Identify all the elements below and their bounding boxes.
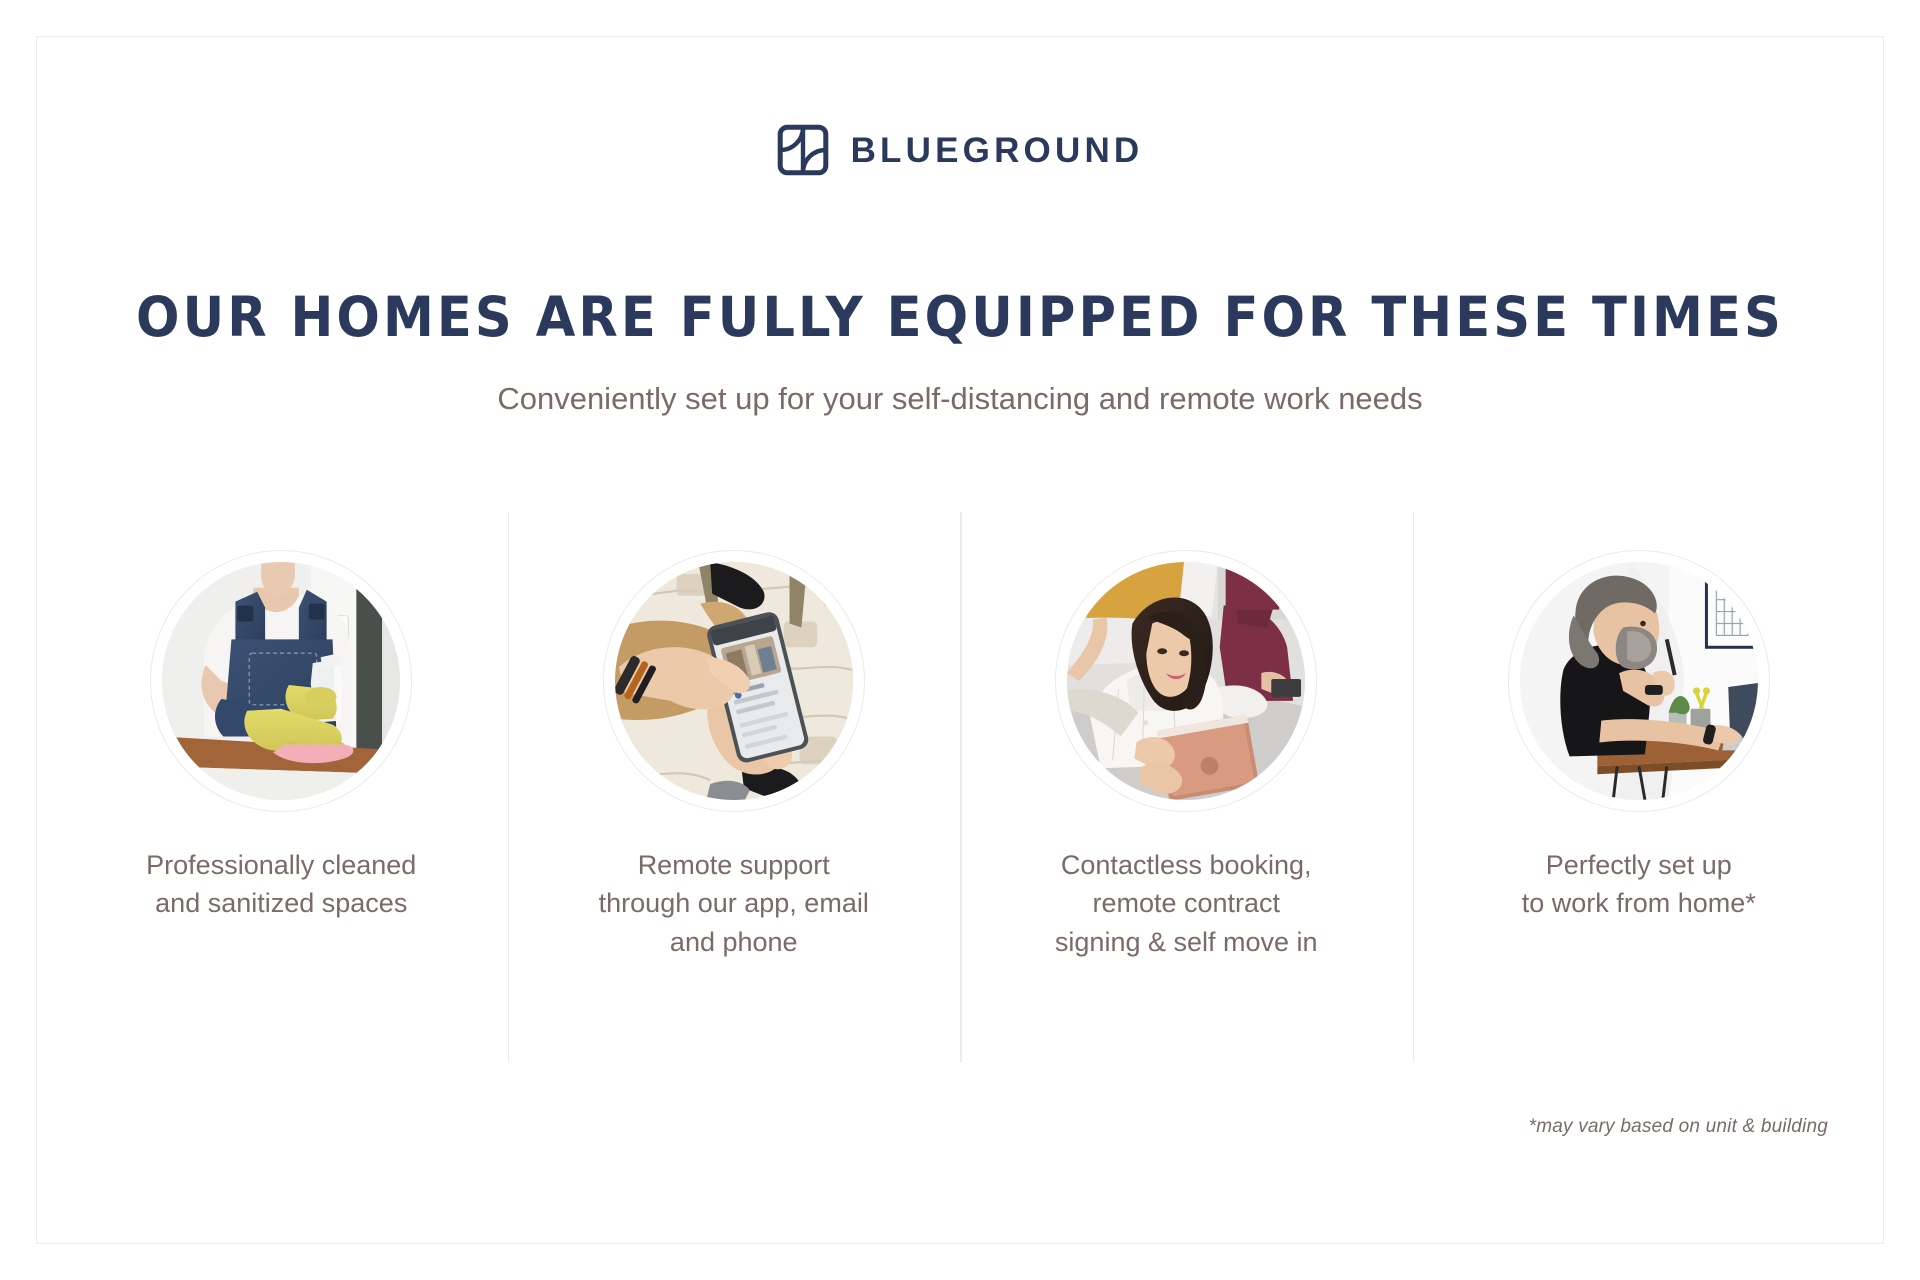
page-headline: OUR HOMES ARE FULLY EQUIPPED FOR THESE T… xyxy=(67,289,1853,347)
feature-caption: Contactless booking, remote contract sig… xyxy=(1055,846,1318,961)
page-subheadline: Conveniently set up for your self-distan… xyxy=(0,379,1920,419)
photo-ring xyxy=(150,550,412,812)
woman-on-bed-with-tablet-photo xyxy=(1067,562,1305,800)
feature-caption: Perfectly set up to work from home* xyxy=(1522,846,1756,923)
feature-column-cleaning: Professionally cleaned and sanitized spa… xyxy=(55,512,508,1062)
feature-caption: Professionally cleaned and sanitized spa… xyxy=(146,846,416,923)
hands-using-smartphone-photo xyxy=(615,562,853,800)
feature-column-contactless-booking: Contactless booking, remote contract sig… xyxy=(960,512,1413,1062)
feature-column-remote-support: Remote support through our app, email an… xyxy=(508,512,961,1062)
feature-columns: Professionally cleaned and sanitized spa… xyxy=(55,512,1865,1062)
man-working-at-desk-photo xyxy=(1520,562,1758,800)
cleaner-disinfecting-counter-photo xyxy=(162,562,400,800)
brand-lockup: BLUEGROUND xyxy=(0,124,1920,176)
photo-ring xyxy=(1508,550,1770,812)
feature-caption: Remote support through our app, email an… xyxy=(599,846,869,961)
brand-wordmark: BLUEGROUND xyxy=(851,133,1144,168)
photo-ring xyxy=(1055,550,1317,812)
footnote-disclaimer: *may vary based on unit & building xyxy=(1529,1116,1828,1138)
poster-canvas: BLUEGROUND OUR HOMES ARE FULLY EQUIPPED … xyxy=(0,0,1920,1280)
feature-column-work-from-home: Perfectly set up to work from home* xyxy=(1413,512,1866,1062)
blueground-logo-icon xyxy=(777,124,829,176)
photo-ring xyxy=(603,550,865,812)
